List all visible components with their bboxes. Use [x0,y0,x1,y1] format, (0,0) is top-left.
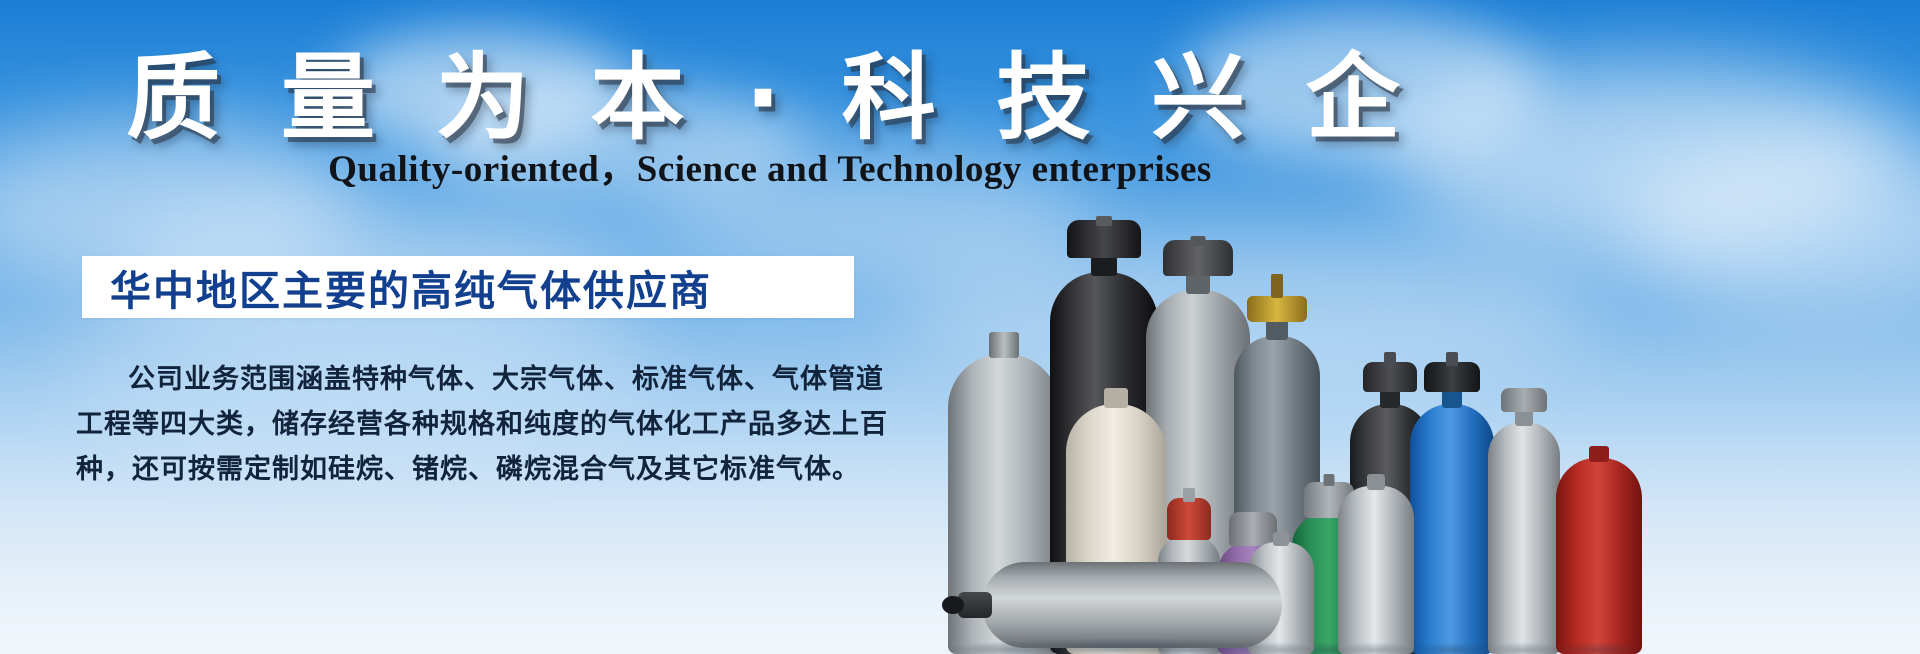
red-cylinder [1556,439,1642,654]
highlight-box: 华中地区主要的高纯气体供应商 [82,256,854,318]
paragraph-line-1: 公司业务范围涵盖特种气体、大宗气体、标准气体、气体管道 [76,357,866,402]
front-silver-cylinder [1338,469,1414,654]
silver-cylinder [1488,386,1560,654]
brass-valve-cap [1247,296,1307,322]
paragraph-line-2: 工程等四大类，储存经营各种规格和纯度的气体化工产品多达上百 [76,402,866,447]
gas-cylinder-product-image [940,150,1920,654]
horizontal-grey-tank [958,562,1288,648]
blue-cylinder [1410,354,1494,654]
highlight-box-label: 华中地区主要的高纯气体供应商 [82,257,712,317]
promotional-banner: 质 量 为 本 · 科 技 兴 企 Quality-oriented，Scien… [0,0,1920,654]
paragraph-line-3: 种，还可按需定制如硅烷、锗烷、磷烷混合气及其它标准气体。 [76,447,866,492]
description-paragraph: 公司业务范围涵盖特种气体、大宗气体、标准气体、气体管道 工程等四大类，储存经营各… [76,357,866,492]
red-cylinder-cap [1167,498,1211,540]
